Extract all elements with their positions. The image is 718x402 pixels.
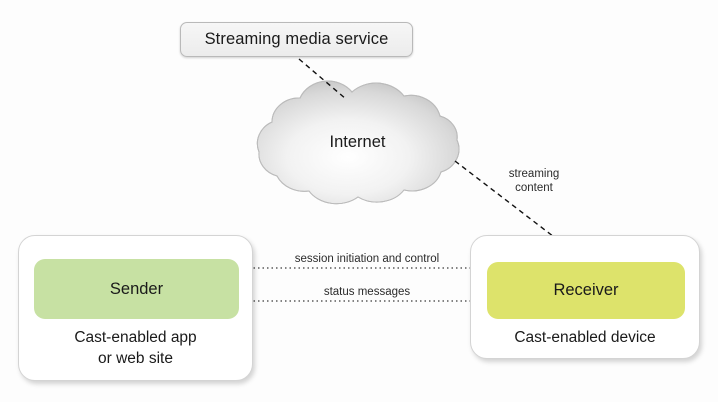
receiver-card[interactable]: Receiver Cast-enabled device xyxy=(470,235,700,359)
streaming-media-service-box[interactable]: Streaming media service xyxy=(180,22,413,57)
streaming-media-service-label: Streaming media service xyxy=(205,30,389,49)
receiver-node[interactable]: Receiver xyxy=(487,262,685,319)
sender-card[interactable]: Sender Cast-enabled app or web site xyxy=(18,235,253,381)
diagram-canvas: Streaming media service Internet streami… xyxy=(0,0,718,402)
sender-node-label: Sender xyxy=(110,280,163,299)
receiver-caption: Cast-enabled device xyxy=(471,327,699,348)
edge-label-status-messages: status messages xyxy=(300,285,434,299)
receiver-node-label: Receiver xyxy=(553,281,618,300)
sender-caption: Cast-enabled app or web site xyxy=(19,327,252,369)
sender-node[interactable]: Sender xyxy=(34,259,239,319)
edge-label-streaming-content: streaming content xyxy=(494,167,574,195)
internet-label: Internet xyxy=(255,133,460,152)
edge-label-session-initiation: session initiation and control xyxy=(281,252,453,266)
